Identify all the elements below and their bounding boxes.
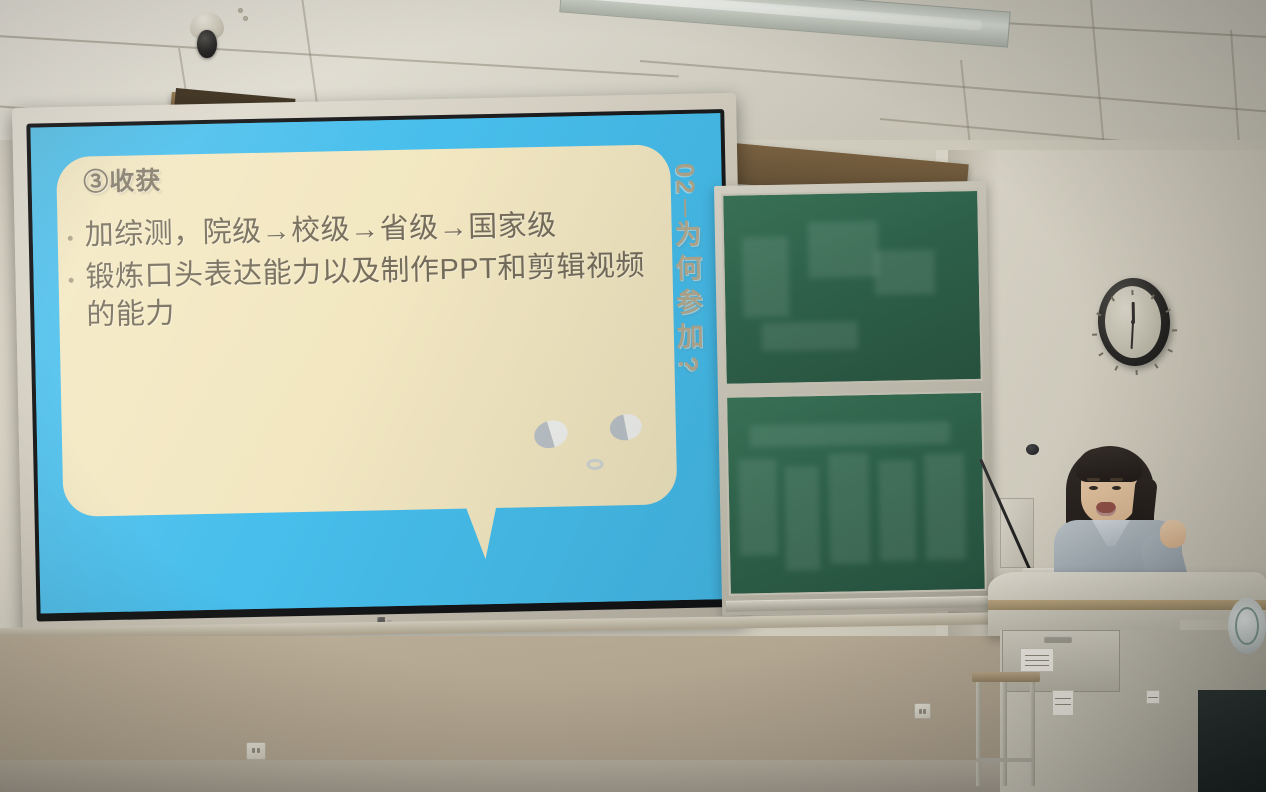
university-seal-icon: [1228, 598, 1266, 654]
display-screen[interactable]: ③收获 加综测，院级→校级→省级→国家级 锻炼口头表达能力以及制作PPT和剪辑视…: [30, 113, 730, 613]
chalk-smudge: [750, 422, 950, 448]
presenter-hair-fringe: [1076, 448, 1142, 482]
clock-tick: [1172, 329, 1177, 331]
clock-tick: [1099, 352, 1104, 356]
label-line: [1025, 665, 1049, 666]
wall-outlet[interactable]: [914, 703, 931, 719]
podium-wood-edge: [988, 600, 1266, 610]
bullet-dot-icon: [69, 278, 74, 283]
clock-tick: [1132, 289, 1134, 294]
clock-minute-hand: [1131, 322, 1134, 349]
list-item: 锻炼口头表达能力以及制作PPT和剪辑视频的能力: [64, 247, 659, 336]
clock-tick: [1111, 296, 1115, 301]
ceiling-screw: [243, 16, 248, 21]
presenter-eyebrow: [1087, 478, 1100, 481]
label-line: [1055, 704, 1070, 705]
clock-tick: [1092, 333, 1097, 335]
blackboard: [714, 181, 994, 616]
blackboard-panel-top: [721, 189, 983, 386]
seal-inner-ring: [1235, 607, 1259, 645]
microphone-icon: [1026, 444, 1039, 455]
clock-center-pin: [1131, 320, 1135, 324]
stool-leg: [976, 682, 981, 786]
drawer-handle[interactable]: [1044, 636, 1072, 643]
floor-shadow-area: [1198, 690, 1266, 792]
slide-section-number: 02: [669, 162, 701, 196]
label-line: [1055, 698, 1070, 699]
classroom-scene: ③收获 加综测，院级→校级→省级→国家级 锻炼口头表达能力以及制作PPT和剪辑视…: [0, 0, 1266, 792]
wall-outlet[interactable]: [246, 742, 266, 760]
stool-leg: [1002, 682, 1007, 786]
side-label-divider: [684, 198, 686, 216]
slide-side-label: 02 为何参加?: [665, 162, 712, 532]
bullet-dot-icon: [68, 236, 73, 241]
podium-label: [1020, 648, 1054, 672]
camera-lens: [197, 30, 216, 58]
presenter-eye: [1112, 486, 1121, 490]
presenter-eye: [1089, 486, 1098, 490]
chalk-smudge: [762, 321, 859, 351]
interactive-display[interactable]: ③收获 加综测，院级→校级→省级→国家级 锻炼口头表达能力以及制作PPT和剪辑视…: [12, 93, 747, 636]
blackboard-panel-bottom: [725, 391, 987, 596]
label-line: [1025, 655, 1049, 656]
chalk-smudge: [878, 460, 916, 561]
slide-title: ③收获: [83, 161, 162, 199]
stool-rail: [976, 758, 1034, 762]
slide-section-title: 为何参加?: [666, 219, 708, 379]
ring-decoration: [586, 458, 603, 469]
chalk-smudge: [874, 250, 935, 295]
wooden-stool: [972, 672, 1040, 790]
bullet-text: 锻炼口头表达能力以及制作PPT和剪辑视频的能力: [85, 247, 659, 336]
wall-junction-box: [1000, 498, 1034, 568]
chalk-smudge: [808, 221, 879, 278]
chalk-tray: [726, 596, 990, 612]
presenter-mouth: [1096, 502, 1116, 516]
presentation-slide: ③收获 加综测，院级→校级→省级→国家级 锻炼口头表达能力以及制作PPT和剪辑视…: [30, 113, 730, 613]
ceiling-screw: [238, 8, 243, 13]
podium-label: [1146, 690, 1160, 704]
chalk-smudge: [738, 459, 778, 556]
security-camera-icon: [190, 12, 224, 60]
presenter-eyebrow: [1110, 478, 1123, 481]
chalk-smudge: [742, 237, 790, 318]
chalk-smudge: [784, 466, 820, 571]
label-line: [1148, 697, 1157, 698]
label-line: [1025, 660, 1049, 661]
slide-bullet-list: 加综测，院级→校级→省级→国家级 锻炼口头表达能力以及制作PPT和剪辑视频的能力: [63, 204, 659, 339]
chalk-smudge: [924, 453, 966, 560]
chalk-smudge: [828, 453, 870, 564]
stool-seat: [972, 672, 1040, 682]
podium-label: [1052, 690, 1074, 716]
stool-leg: [1030, 682, 1035, 786]
presenter-hand: [1160, 520, 1186, 548]
wall-clock: [1096, 276, 1173, 368]
